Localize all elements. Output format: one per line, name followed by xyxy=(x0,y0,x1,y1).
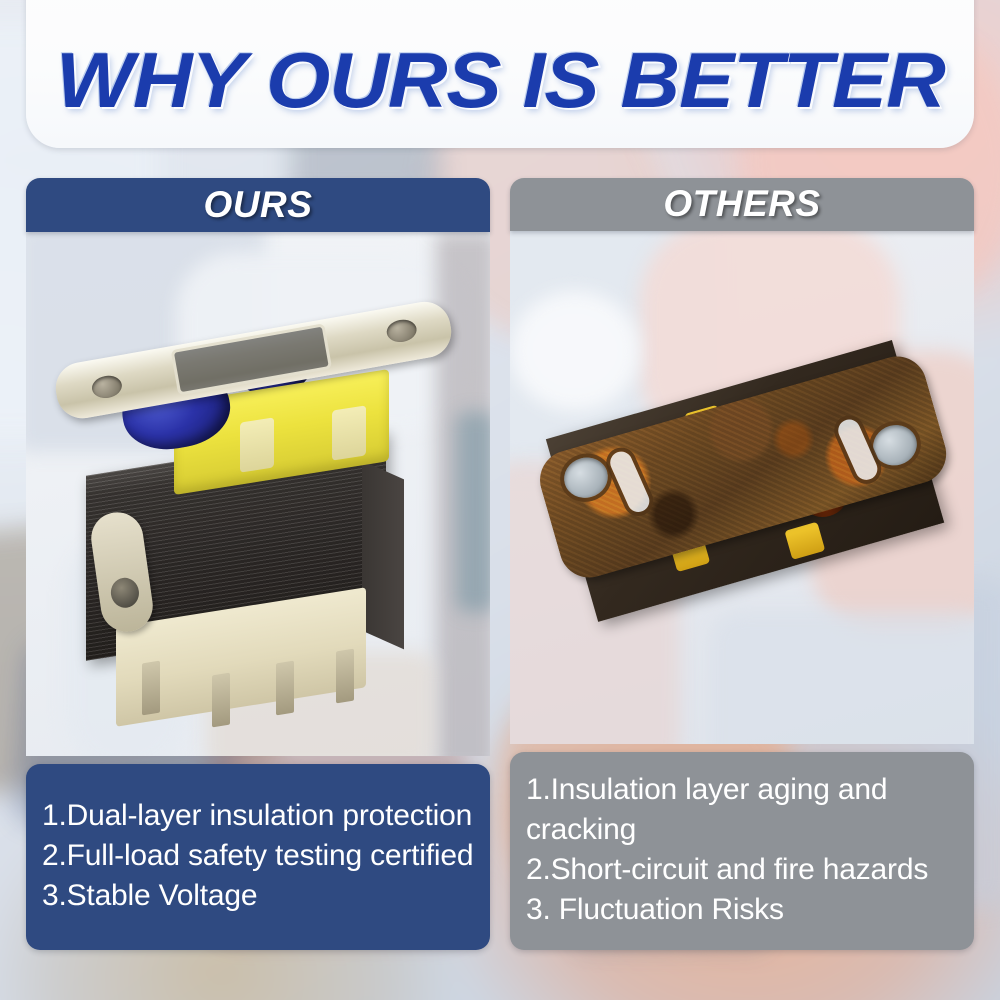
bullet-item: 1.Dual-layer insulation protection xyxy=(42,796,474,836)
comparison-infographic: WHY OURS IS BETTER OURS xyxy=(0,0,1000,1000)
bullet-item: 3. Fluctuation Risks xyxy=(526,890,958,930)
product-photo-others xyxy=(510,231,974,745)
column-ours: OURS xyxy=(26,178,490,950)
comparison-columns: OURS xyxy=(0,178,1000,950)
column-header-others: OTHERS xyxy=(510,178,974,231)
bullet-box-ours: 1.Dual-layer insulation protection 2.Ful… xyxy=(26,764,490,950)
column-others: OTHERS xyxy=(510,178,974,950)
page-title: WHY OURS IS BETTER xyxy=(56,35,945,126)
column-header-ours: OURS xyxy=(26,178,490,232)
column-header-label-ours: OURS xyxy=(204,184,313,226)
transformer-new-illustration xyxy=(44,262,474,732)
bullet-item: 2.Short-circuit and fire hazards xyxy=(526,850,958,890)
bullet-item: 2.Full-load safety testing certified xyxy=(42,836,474,876)
bullet-item: 3.Stable Voltage xyxy=(42,876,474,916)
title-banner: WHY OURS IS BETTER xyxy=(26,0,974,148)
column-header-label-others: OTHERS xyxy=(663,183,820,225)
product-photo-ours xyxy=(26,232,490,756)
bullet-item: 1.Insulation layer aging and cracking xyxy=(526,770,958,850)
bullet-box-others: 1.Insulation layer aging and cracking 2.… xyxy=(510,752,974,950)
